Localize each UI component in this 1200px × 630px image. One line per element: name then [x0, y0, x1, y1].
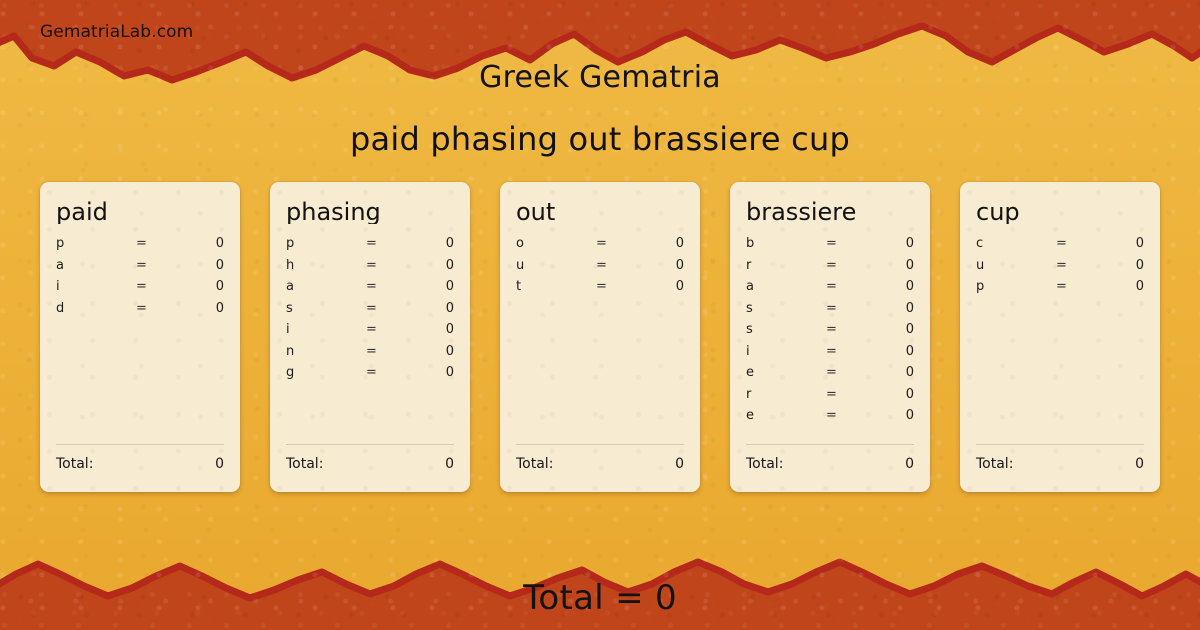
equals-sign: =	[136, 279, 176, 294]
letter-row: i = 0	[746, 344, 914, 366]
letter-glyph: t	[516, 279, 596, 294]
letter-value: 0	[406, 322, 454, 337]
letter-row: d = 0	[56, 301, 224, 323]
letter-glyph: r	[746, 387, 826, 402]
letter-row: c = 0	[976, 236, 1144, 258]
letter-value: 0	[866, 387, 914, 402]
letter-glyph: s	[746, 301, 826, 316]
letter-row: e = 0	[746, 408, 914, 430]
letter-value: 0	[1096, 279, 1144, 294]
card-word-title: paid	[56, 200, 224, 224]
letter-glyph: i	[746, 344, 826, 359]
letter-value-table: b = 0 r = 0 a = 0 s = 0 s = 0	[746, 236, 914, 430]
card-footer: Total: 0	[516, 444, 684, 472]
letter-glyph: e	[746, 365, 826, 380]
equals-sign: =	[1056, 258, 1096, 273]
letter-value: 0	[866, 365, 914, 380]
card-word-title: brassiere	[746, 200, 914, 224]
letter-row: u = 0	[516, 258, 684, 280]
letter-row: n = 0	[286, 344, 454, 366]
card-word-title: phasing	[286, 200, 454, 224]
letter-row: s = 0	[286, 301, 454, 323]
letter-glyph: d	[56, 301, 136, 316]
card-total-value: 0	[905, 456, 914, 472]
equals-sign: =	[826, 301, 866, 316]
site-brand: GematriaLab.com	[40, 22, 193, 42]
letter-glyph: p	[56, 236, 136, 251]
card-divider	[516, 444, 684, 445]
letter-row: t = 0	[516, 279, 684, 301]
letter-row: a = 0	[56, 258, 224, 280]
letter-glyph: r	[746, 258, 826, 273]
letter-value: 0	[866, 236, 914, 251]
letter-value-table: c = 0 u = 0 p = 0	[976, 236, 1144, 301]
letter-value: 0	[866, 301, 914, 316]
letter-row: u = 0	[976, 258, 1144, 280]
equals-sign: =	[1056, 236, 1096, 251]
letter-row: i = 0	[286, 322, 454, 344]
equals-sign: =	[366, 365, 406, 380]
letter-glyph: u	[976, 258, 1056, 273]
letter-value: 0	[1096, 258, 1144, 273]
letter-glyph: a	[286, 279, 366, 294]
letter-value: 0	[406, 365, 454, 380]
card-total-value: 0	[445, 456, 454, 472]
equals-sign: =	[366, 258, 406, 273]
equals-sign: =	[366, 236, 406, 251]
letter-value: 0	[866, 279, 914, 294]
letter-row: g = 0	[286, 365, 454, 387]
letter-glyph: i	[56, 279, 136, 294]
card-total-line: Total: 0	[286, 456, 454, 472]
letter-glyph: h	[286, 258, 366, 273]
equals-sign: =	[596, 279, 636, 294]
letter-glyph: c	[976, 236, 1056, 251]
equals-sign: =	[826, 322, 866, 337]
equals-sign: =	[826, 408, 866, 423]
card-footer: Total: 0	[746, 444, 914, 472]
equals-sign: =	[596, 258, 636, 273]
equals-sign: =	[826, 258, 866, 273]
card-total-label: Total:	[976, 456, 1013, 472]
letter-glyph: p	[976, 279, 1056, 294]
input-phrase: paid phasing out brassiere cup	[0, 120, 1200, 158]
letter-row: p = 0	[56, 236, 224, 258]
equals-sign: =	[366, 279, 406, 294]
word-card: phasing p = 0 h = 0 a = 0 s = 0	[270, 182, 470, 492]
letter-value: 0	[636, 279, 684, 294]
letter-glyph: e	[746, 408, 826, 423]
letter-value: 0	[176, 301, 224, 316]
card-divider	[746, 444, 914, 445]
card-total-line: Total: 0	[746, 456, 914, 472]
letter-value: 0	[176, 279, 224, 294]
card-divider	[286, 444, 454, 445]
letter-row: r = 0	[746, 258, 914, 280]
card-total-line: Total: 0	[976, 456, 1144, 472]
letter-glyph: s	[286, 301, 366, 316]
letter-value-table: p = 0 h = 0 a = 0 s = 0 i = 0	[286, 236, 454, 387]
letter-row: e = 0	[746, 365, 914, 387]
letter-row: s = 0	[746, 322, 914, 344]
letter-glyph: s	[746, 322, 826, 337]
letter-value: 0	[636, 236, 684, 251]
gematria-system-title: Greek Gematria	[0, 60, 1200, 95]
card-total-line: Total: 0	[516, 456, 684, 472]
letter-value: 0	[176, 258, 224, 273]
letter-value: 0	[636, 258, 684, 273]
equals-sign: =	[826, 236, 866, 251]
letter-value: 0	[406, 236, 454, 251]
letter-glyph: b	[746, 236, 826, 251]
card-footer: Total: 0	[56, 444, 224, 472]
card-footer: Total: 0	[976, 444, 1144, 472]
letter-value: 0	[406, 301, 454, 316]
equals-sign: =	[826, 365, 866, 380]
card-total-value: 0	[1135, 456, 1144, 472]
letter-glyph: g	[286, 365, 366, 380]
equals-sign: =	[136, 236, 176, 251]
letter-glyph: p	[286, 236, 366, 251]
letter-row: b = 0	[746, 236, 914, 258]
equals-sign: =	[826, 387, 866, 402]
card-total-label: Total:	[516, 456, 553, 472]
equals-sign: =	[1056, 279, 1096, 294]
equals-sign: =	[366, 322, 406, 337]
letter-row: o = 0	[516, 236, 684, 258]
equals-sign: =	[366, 301, 406, 316]
card-word-title: cup	[976, 200, 1144, 224]
card-total-value: 0	[675, 456, 684, 472]
word-card: out o = 0 u = 0 t = 0 Total:	[500, 182, 700, 492]
gematria-image-canvas: GematriaLab.com Greek Gematria paid phas…	[0, 0, 1200, 630]
card-divider	[56, 444, 224, 445]
letter-value: 0	[406, 258, 454, 273]
letter-row: a = 0	[746, 279, 914, 301]
card-total-line: Total: 0	[56, 456, 224, 472]
letter-value-table: p = 0 a = 0 i = 0 d = 0	[56, 236, 224, 322]
letter-value-table: o = 0 u = 0 t = 0	[516, 236, 684, 301]
letter-value: 0	[866, 258, 914, 273]
word-card-list: paid p = 0 a = 0 i = 0 d = 0	[40, 182, 1160, 492]
letter-glyph: i	[286, 322, 366, 337]
letter-glyph: a	[56, 258, 136, 273]
letter-row: s = 0	[746, 301, 914, 323]
card-total-label: Total:	[286, 456, 323, 472]
letter-glyph: a	[746, 279, 826, 294]
card-total-value: 0	[215, 456, 224, 472]
letter-row: r = 0	[746, 387, 914, 409]
word-card: paid p = 0 a = 0 i = 0 d = 0	[40, 182, 240, 492]
letter-row: h = 0	[286, 258, 454, 280]
equals-sign: =	[136, 301, 176, 316]
grand-total: Total = 0	[0, 578, 1200, 618]
card-total-label: Total:	[56, 456, 93, 472]
letter-value: 0	[406, 344, 454, 359]
letter-value: 0	[1096, 236, 1144, 251]
letter-value: 0	[176, 236, 224, 251]
equals-sign: =	[596, 236, 636, 251]
word-card: brassiere b = 0 r = 0 a = 0 s = 0	[730, 182, 930, 492]
letter-value: 0	[866, 322, 914, 337]
letter-row: p = 0	[286, 236, 454, 258]
card-divider	[976, 444, 1144, 445]
word-card: cup c = 0 u = 0 p = 0 Total:	[960, 182, 1160, 492]
letter-row: a = 0	[286, 279, 454, 301]
letter-value: 0	[866, 408, 914, 423]
letter-value: 0	[866, 344, 914, 359]
letter-glyph: o	[516, 236, 596, 251]
letter-value: 0	[406, 279, 454, 294]
letter-glyph: u	[516, 258, 596, 273]
letter-glyph: n	[286, 344, 366, 359]
equals-sign: =	[826, 279, 866, 294]
letter-row: i = 0	[56, 279, 224, 301]
card-footer: Total: 0	[286, 444, 454, 472]
equals-sign: =	[366, 344, 406, 359]
equals-sign: =	[826, 344, 866, 359]
equals-sign: =	[136, 258, 176, 273]
card-word-title: out	[516, 200, 684, 224]
card-total-label: Total:	[746, 456, 783, 472]
letter-row: p = 0	[976, 279, 1144, 301]
